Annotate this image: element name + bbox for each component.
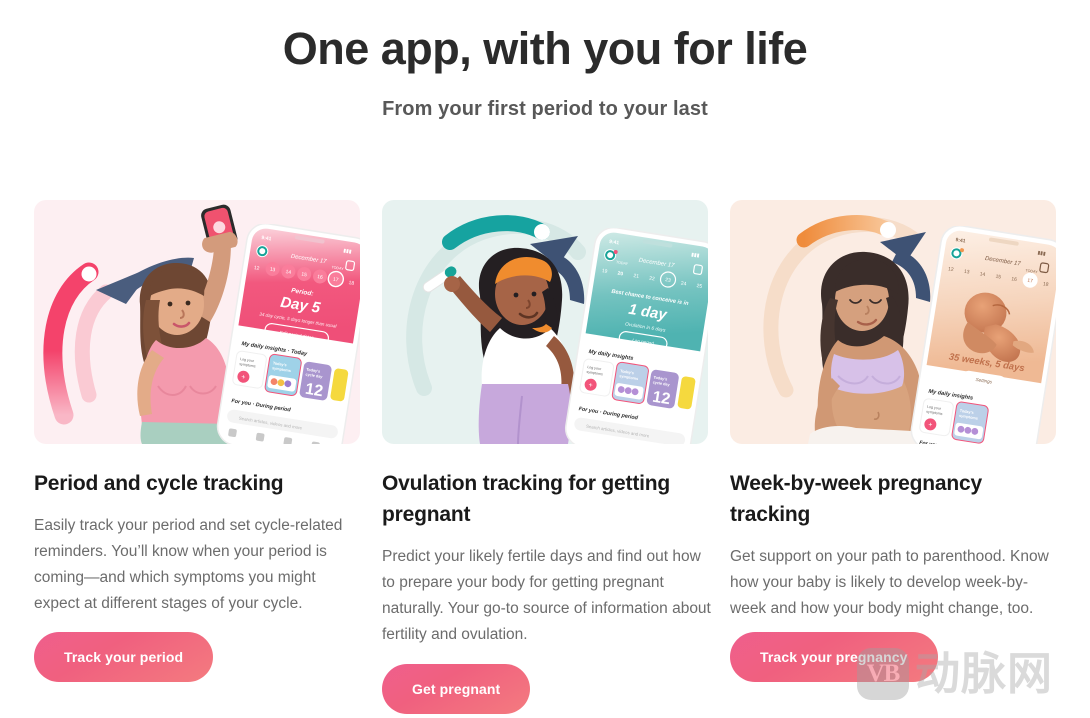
card-body-pregnancy: Get support on your path to parenthood. …: [730, 544, 1060, 622]
page-title: One app, with you for life: [0, 22, 1090, 76]
svg-text:12: 12: [651, 389, 671, 409]
page-subtitle: From your first period to your last: [0, 96, 1090, 122]
card-body-ovulation: Predict your likely fertile days and fin…: [382, 544, 712, 648]
phone-mockup-ovulation: 9:41 ▮▮▮ December 17 19 20 21 22 23: [562, 228, 708, 444]
svg-text:12: 12: [304, 381, 324, 401]
get-pregnant-button[interactable]: Get pregnant: [382, 664, 530, 714]
cta-wrap-pregnancy: Track your pregnancy: [730, 632, 938, 682]
phone-mockup-pregnancy: 9:41 ▮▮▮ December 17 12 13 14 15 16: [906, 226, 1056, 444]
track-your-period-button[interactable]: Track your period: [34, 632, 213, 682]
card-title-period: Period and cycle tracking: [34, 468, 360, 499]
hero-section: One app, with you for life From your fir…: [0, 0, 1090, 122]
card-illustration-ovulation: 9:41 ▮▮▮ December 17 19 20 21 22 23: [382, 200, 708, 444]
card-illustration-pregnancy: 9:41 ▮▮▮ December 17 12 13 14 15 16: [730, 200, 1056, 444]
phone-mockup-period: 9:41 ▮▮▮ December 17 12 13 14 15 16 17: [216, 224, 360, 444]
card-illustration-period: 9:41 ▮▮▮ December 17 12 13 14 15 16 17: [34, 200, 360, 444]
card-body-period: Easily track your period and set cycle-r…: [34, 513, 360, 617]
feature-card-ovulation: 9:41 ▮▮▮ December 17 19 20 21 22 23: [382, 200, 708, 648]
landing-page: One app, with you for life From your fir…: [0, 0, 1090, 718]
feature-card-period: 9:41 ▮▮▮ December 17 12 13 14 15 16 17: [34, 200, 360, 648]
feature-card-pregnancy: 9:41 ▮▮▮ December 17 12 13 14 15 16: [730, 200, 1056, 648]
card-title-pregnancy: Week-by-week pregnancy tracking: [730, 468, 1056, 530]
track-your-pregnancy-button[interactable]: Track your pregnancy: [730, 632, 938, 682]
cta-wrap-period: Track your period: [34, 632, 213, 682]
card-title-ovulation: Ovulation tracking for getting pregnant: [382, 468, 708, 530]
cta-wrap-ovulation: Get pregnant: [382, 664, 530, 714]
feature-card-list: 9:41 ▮▮▮ December 17 12 13 14 15 16 17: [34, 200, 1056, 648]
